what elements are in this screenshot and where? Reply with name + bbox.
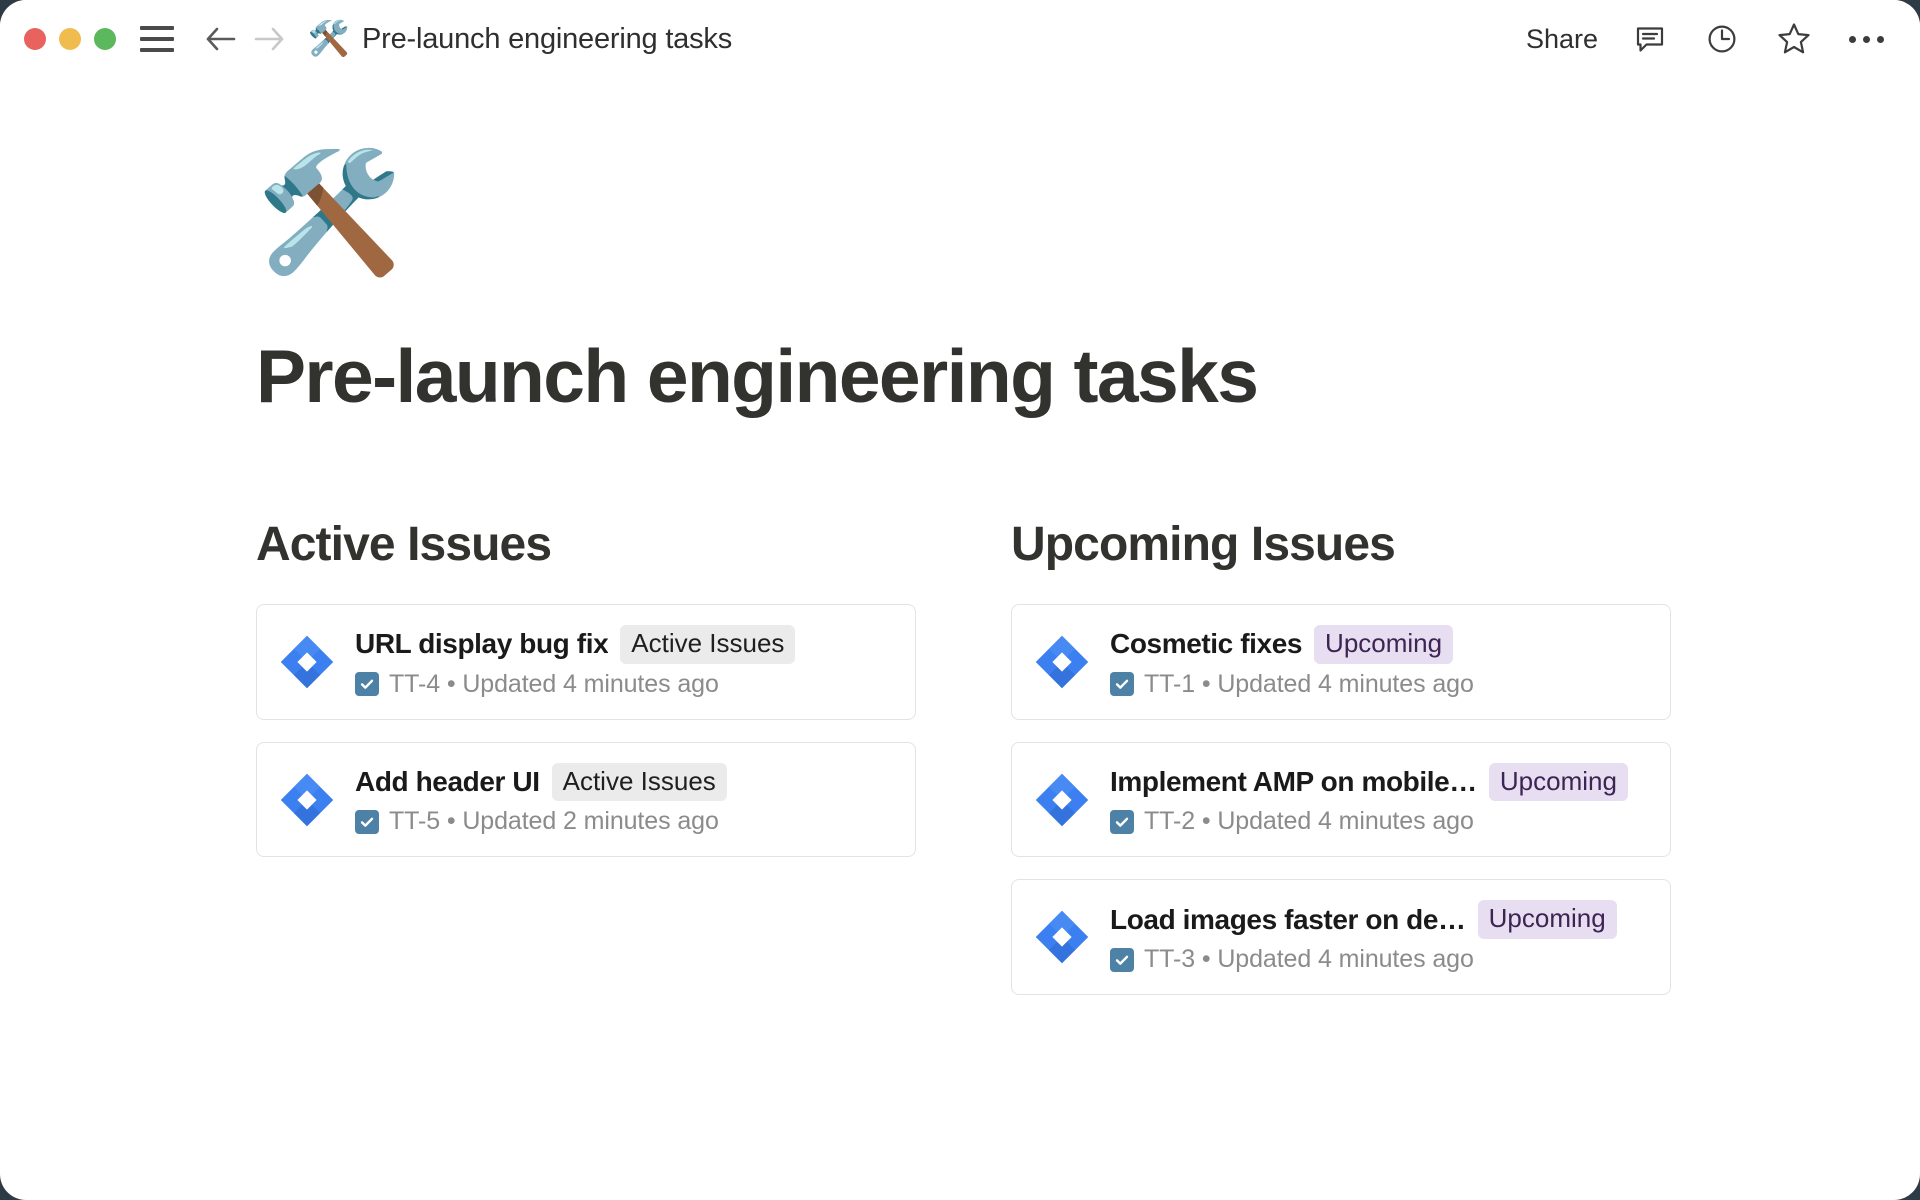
- issue-card[interactable]: Load images faster on de… Upcoming TT-3 …: [1011, 879, 1671, 995]
- issue-title-row: URL display bug fix Active Issues: [355, 625, 893, 664]
- issue-meta: TT-1 • Updated 4 minutes ago: [1144, 670, 1474, 699]
- issue-status-tag: Active Issues: [552, 763, 727, 802]
- issue-columns: Active Issues: [256, 517, 1800, 1017]
- more-options-icon[interactable]: [1846, 19, 1886, 59]
- content-wrapper: 🛠️ Pre-launch engineering tasks Active I…: [0, 138, 1920, 1017]
- section-heading: Active Issues: [256, 517, 916, 572]
- issue-title: Cosmetic fixes: [1110, 628, 1302, 660]
- issue-status-tag: Upcoming: [1314, 625, 1453, 664]
- checked-checkbox-icon[interactable]: [1110, 672, 1134, 696]
- issue-meta: TT-2 • Updated 4 minutes ago: [1144, 807, 1474, 836]
- checked-checkbox-icon[interactable]: [355, 810, 379, 834]
- titlebar-actions: Share: [1526, 19, 1894, 59]
- document-title: Pre-launch engineering tasks: [362, 23, 732, 56]
- checked-checkbox-icon[interactable]: [1110, 948, 1134, 972]
- arrow-left-icon[interactable]: [200, 18, 242, 60]
- issue-title: Add header UI: [355, 766, 540, 798]
- jira-logo-icon: [1034, 772, 1090, 828]
- issue-meta-row: TT-1 • Updated 4 minutes ago: [1110, 670, 1648, 699]
- issue-meta-row: TT-5 • Updated 2 minutes ago: [355, 807, 893, 836]
- issue-meta-row: TT-3 • Updated 4 minutes ago: [1110, 945, 1648, 974]
- issue-card[interactable]: Add header UI Active Issues TT-5 • Updat…: [256, 742, 916, 858]
- issue-card[interactable]: Implement AMP on mobile… Upcoming TT-2 •…: [1011, 742, 1671, 858]
- page-title[interactable]: Pre-launch engineering tasks: [256, 336, 1800, 417]
- issue-meta-row: TT-2 • Updated 4 minutes ago: [1110, 807, 1648, 836]
- issue-status-tag: Active Issues: [620, 625, 795, 664]
- minimize-window-button[interactable]: [59, 28, 81, 50]
- issue-card[interactable]: URL display bug fix Active Issues TT-4 •…: [256, 604, 916, 720]
- issue-title-row: Load images faster on de… Upcoming: [1110, 900, 1648, 939]
- issue-body: Load images faster on de… Upcoming TT-3 …: [1110, 900, 1648, 974]
- title-bar: 🛠️ Pre-launch engineering tasks Share: [0, 0, 1920, 78]
- issue-body: Implement AMP on mobile… Upcoming TT-2 •…: [1110, 763, 1648, 837]
- issue-title-row: Add header UI Active Issues: [355, 763, 893, 802]
- issue-title: Load images faster on de…: [1110, 904, 1466, 936]
- comment-bubble-icon[interactable]: [1630, 19, 1670, 59]
- jira-logo-icon: [1034, 909, 1090, 965]
- close-window-button[interactable]: [24, 28, 46, 50]
- issue-meta-row: TT-4 • Updated 4 minutes ago: [355, 670, 893, 699]
- clock-history-icon[interactable]: [1702, 19, 1742, 59]
- column-upcoming-issues: Upcoming Issues Cosmetic fixes Upcoming: [1011, 517, 1671, 1017]
- page-body: 🛠️ Pre-launch engineering tasks Active I…: [0, 78, 1920, 1017]
- share-button[interactable]: Share: [1526, 24, 1598, 55]
- issue-status-tag: Upcoming: [1478, 900, 1617, 939]
- issue-body: Add header UI Active Issues TT-5 • Updat…: [355, 763, 893, 837]
- star-icon[interactable]: [1774, 19, 1814, 59]
- checked-checkbox-icon[interactable]: [355, 672, 379, 696]
- checked-checkbox-icon[interactable]: [1110, 810, 1134, 834]
- issue-status-tag: Upcoming: [1489, 763, 1628, 802]
- issue-title-row: Cosmetic fixes Upcoming: [1110, 625, 1648, 664]
- document-emoji-icon: 🛠️: [310, 19, 348, 59]
- maximize-window-button[interactable]: [94, 28, 116, 50]
- issue-meta: TT-5 • Updated 2 minutes ago: [389, 807, 719, 836]
- issue-title: Implement AMP on mobile…: [1110, 766, 1477, 798]
- issue-title-row: Implement AMP on mobile… Upcoming: [1110, 763, 1648, 802]
- hamburger-menu-icon[interactable]: [140, 26, 174, 52]
- issue-card[interactable]: Cosmetic fixes Upcoming TT-1 • Updated 4…: [1011, 604, 1671, 720]
- app-window: 🛠️ Pre-launch engineering tasks Share: [0, 0, 1920, 1200]
- jira-logo-icon: [279, 634, 335, 690]
- section-heading: Upcoming Issues: [1011, 517, 1671, 572]
- jira-logo-icon: [1034, 634, 1090, 690]
- issue-title: URL display bug fix: [355, 628, 608, 660]
- page-emoji-icon[interactable]: 🛠️: [256, 138, 1800, 288]
- arrow-right-icon[interactable]: [248, 18, 290, 60]
- issue-body: URL display bug fix Active Issues TT-4 •…: [355, 625, 893, 699]
- issue-meta: TT-4 • Updated 4 minutes ago: [389, 670, 719, 699]
- issue-meta: TT-3 • Updated 4 minutes ago: [1144, 945, 1474, 974]
- column-active-issues: Active Issues: [256, 517, 916, 1017]
- issue-body: Cosmetic fixes Upcoming TT-1 • Updated 4…: [1110, 625, 1648, 699]
- window-controls: [24, 28, 116, 50]
- jira-logo-icon: [279, 772, 335, 828]
